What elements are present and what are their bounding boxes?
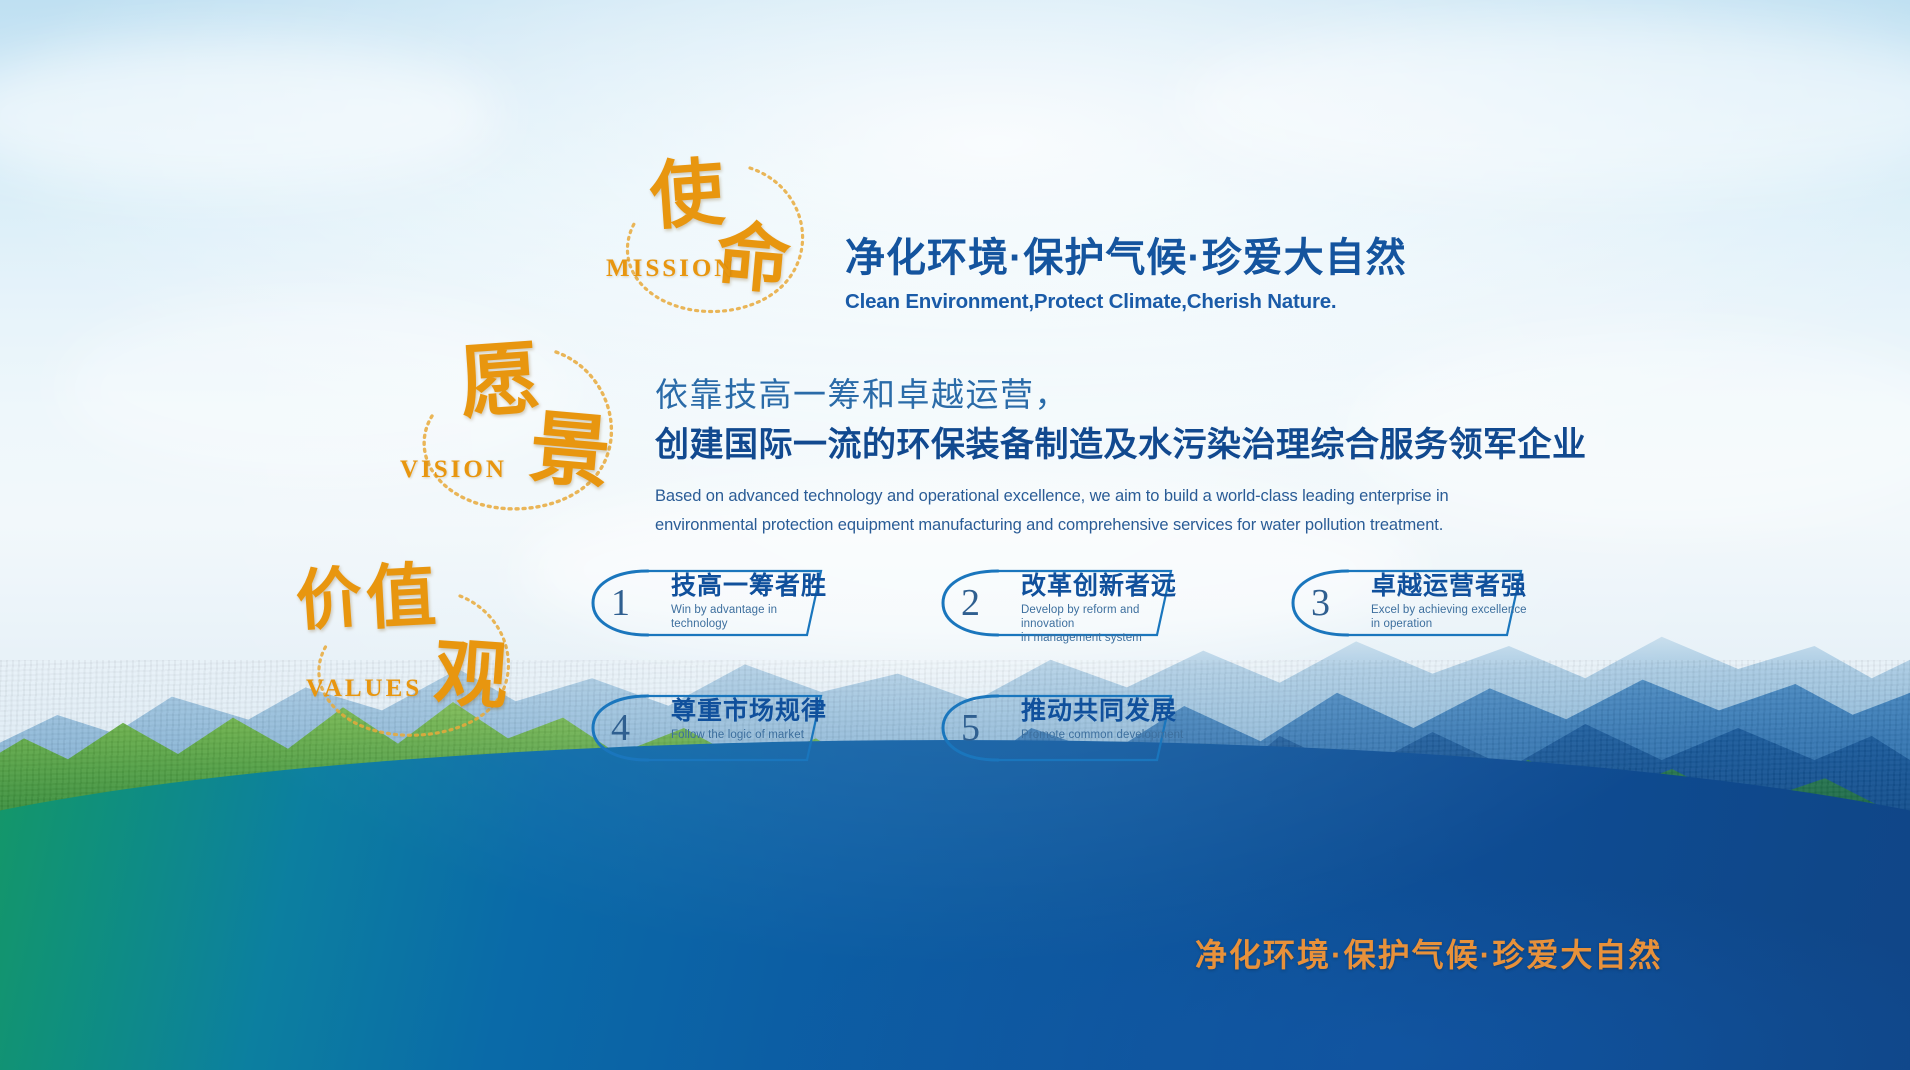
value-card-5-text: 推动共同发展 Promote common development xyxy=(1021,696,1183,742)
value-card-2-title-cn: 改革创新者远 xyxy=(1021,571,1185,601)
value-card-4-title-en: Follow the logic of market xyxy=(671,728,827,742)
vision-line-1: 依靠技高一筹和卓越运营， xyxy=(655,375,1587,415)
value-card-2-title-en: Develop by reform and innovation in mana… xyxy=(1021,603,1185,645)
value-card-1-text: 技高一筹者胜 Win by advantage in technology xyxy=(671,571,827,631)
value-card-1-title-cn: 技高一筹者胜 xyxy=(671,571,827,601)
value-card-4-number: 4 xyxy=(611,709,630,747)
value-card-3-number: 3 xyxy=(1311,584,1330,622)
mission-calligraphy-badge: 使 命 MISSION xyxy=(600,150,840,320)
values-badge-char-3: 观 xyxy=(432,636,511,715)
value-card-1[interactable]: 1 技高一筹者胜 Win by advantage in technology xyxy=(585,565,835,641)
footer-slogan: 净化环境·保护气候·珍爱大自然 xyxy=(1195,930,1662,976)
vision-badge-char-1: 愿 xyxy=(457,337,542,422)
value-card-4-title-cn: 尊重市场规律 xyxy=(671,696,827,726)
value-card-4[interactable]: 4 尊重市场规律 Follow the logic of market xyxy=(585,690,835,766)
value-card-2-number: 2 xyxy=(961,584,980,622)
mission-headline-en: Clean Environment,Protect Climate,Cheris… xyxy=(845,290,1407,314)
values-badge-en-label: VALUES xyxy=(306,675,422,703)
value-card-1-title-en: Win by advantage in technology xyxy=(671,603,827,631)
mission-headline-cn: 净化环境·保护气候·珍爱大自然 xyxy=(845,235,1407,281)
value-card-3-title-en: Excel by achieving excellence in operati… xyxy=(1371,603,1527,631)
vision-badge-en-label: VISION xyxy=(400,456,507,484)
vision-text-block: 依靠技高一筹和卓越运营， 创建国际一流的环保装备制造及水污染治理综合服务领军企业… xyxy=(655,375,1587,540)
vision-badge-char-2: 景 xyxy=(527,407,614,494)
vision-paragraph-en: Based on advanced technology and operati… xyxy=(655,482,1535,540)
value-card-3-text: 卓越运营者强 Excel by achieving excellence in … xyxy=(1371,571,1527,631)
vision-line-2: 创建国际一流的环保装备制造及水污染治理综合服务领军企业 xyxy=(655,425,1587,466)
poster-content: 使 命 MISSION 净化环境·保护气候·珍爱大自然 Clean Enviro… xyxy=(0,0,1910,1070)
values-calligraphy-badge: 价 值 观 VALUES xyxy=(282,560,542,745)
value-card-4-text: 尊重市场规律 Follow the logic of market xyxy=(671,696,827,742)
value-card-3-title-cn: 卓越运营者强 xyxy=(1371,571,1527,601)
value-card-3[interactable]: 3 卓越运营者强 Excel by achieving excellence i… xyxy=(1285,565,1535,641)
values-badge-char-2: 值 xyxy=(364,560,438,634)
mission-badge-en-label: MISSION xyxy=(606,255,735,283)
value-card-5[interactable]: 5 推动共同发展 Promote common development xyxy=(935,690,1185,766)
value-card-1-number: 1 xyxy=(611,584,630,622)
mission-badge-char-1: 使 xyxy=(648,156,727,235)
value-card-5-title-en: Promote common development xyxy=(1021,728,1183,742)
value-card-5-number: 5 xyxy=(961,709,980,747)
vision-calligraphy-badge: 愿 景 VISION xyxy=(398,338,648,518)
values-badge-char-1: 价 xyxy=(294,564,364,634)
mission-text-block: 净化环境·保护气候·珍爱大自然 Clean Environment,Protec… xyxy=(845,235,1407,314)
value-card-2-text: 改革创新者远 Develop by reform and innovation … xyxy=(1021,571,1185,645)
value-card-2[interactable]: 2 改革创新者远 Develop by reform and innovatio… xyxy=(935,565,1185,641)
value-card-5-title-cn: 推动共同发展 xyxy=(1021,696,1183,726)
